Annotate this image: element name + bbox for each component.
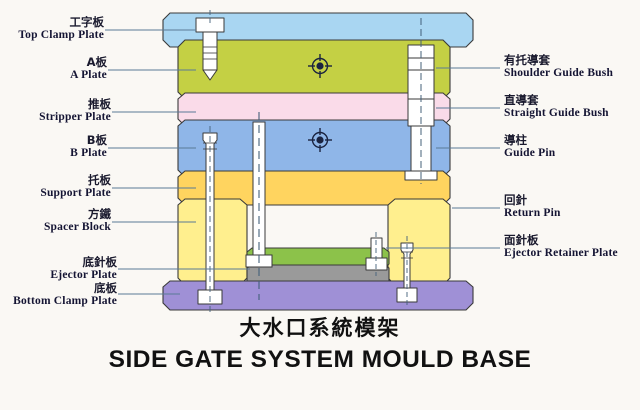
label-support-plate-en: Support Plate: [0, 187, 111, 200]
label-stripper-plate-cn: 推板: [0, 98, 111, 111]
diagram-canvas: 工字板 Top Clamp Plate A板 A Plate 推板 Stripp…: [0, 0, 640, 410]
label-return-pin: 回針 Return Pin: [504, 194, 561, 220]
label-straight-guide-bush: 直導套 Straight Guide Bush: [504, 94, 609, 120]
label-b-plate-en: B Plate: [0, 147, 107, 160]
label-bottom-clamp-plate-cn: 底板: [0, 282, 117, 295]
plate-b: [178, 120, 450, 177]
label-spacer-block-cn: 方鐵: [0, 208, 111, 221]
label-b-plate: B板 B Plate: [0, 134, 107, 160]
label-shoulder-guide-bush-en: Shoulder Guide Bush: [504, 67, 613, 80]
label-ejector-plate-cn: 底針板: [0, 256, 117, 269]
label-b-plate-cn: B板: [0, 134, 107, 147]
figure-title-en: SIDE GATE SYSTEM MOULD BASE: [0, 346, 640, 374]
label-shoulder-guide-bush-cn: 有托導套: [504, 54, 613, 67]
label-top-clamp-plate-en: Top Clamp Plate: [0, 29, 104, 42]
label-bottom-clamp-plate-en: Bottom Clamp Plate: [0, 295, 117, 308]
label-guide-pin-cn: 導柱: [504, 134, 555, 147]
label-spacer-block: 方鐵 Spacer Block: [0, 208, 111, 234]
label-a-plate-cn: A板: [0, 56, 107, 69]
label-a-plate: A板 A Plate: [0, 56, 107, 82]
label-a-plate-en: A Plate: [0, 69, 107, 82]
label-spacer-block-en: Spacer Block: [0, 221, 111, 234]
spacer-block-right: [388, 199, 450, 285]
label-ejector-retainer-plate-en: Ejector Retainer Plate: [504, 247, 618, 260]
label-straight-guide-bush-cn: 直導套: [504, 94, 609, 107]
label-return-pin-en: Return Pin: [504, 207, 561, 220]
label-straight-guide-bush-en: Straight Guide Bush: [504, 107, 609, 120]
label-stripper-plate-en: Stripper Plate: [0, 111, 111, 124]
label-support-plate: 托板 Support Plate: [0, 174, 111, 200]
label-bottom-clamp-plate: 底板 Bottom Clamp Plate: [0, 282, 117, 308]
label-top-clamp-plate: 工字板 Top Clamp Plate: [0, 16, 104, 42]
figure-title-cn: 大水口系統模架: [0, 312, 640, 342]
figure-title: 大水口系統模架 SIDE GATE SYSTEM MOULD BASE: [0, 312, 640, 374]
label-top-clamp-plate-cn: 工字板: [0, 16, 104, 29]
label-guide-pin: 導柱 Guide Pin: [504, 134, 555, 160]
label-ejector-retainer-plate-cn: 面針板: [504, 234, 618, 247]
label-stripper-plate: 推板 Stripper Plate: [0, 98, 111, 124]
label-support-plate-cn: 托板: [0, 174, 111, 187]
label-return-pin-cn: 回針: [504, 194, 561, 207]
label-guide-pin-en: Guide Pin: [504, 147, 555, 160]
label-ejector-retainer-plate: 面針板 Ejector Retainer Plate: [504, 234, 618, 260]
label-shoulder-guide-bush: 有托導套 Shoulder Guide Bush: [504, 54, 613, 80]
label-ejector-plate: 底針板 Ejector Plate: [0, 256, 117, 282]
